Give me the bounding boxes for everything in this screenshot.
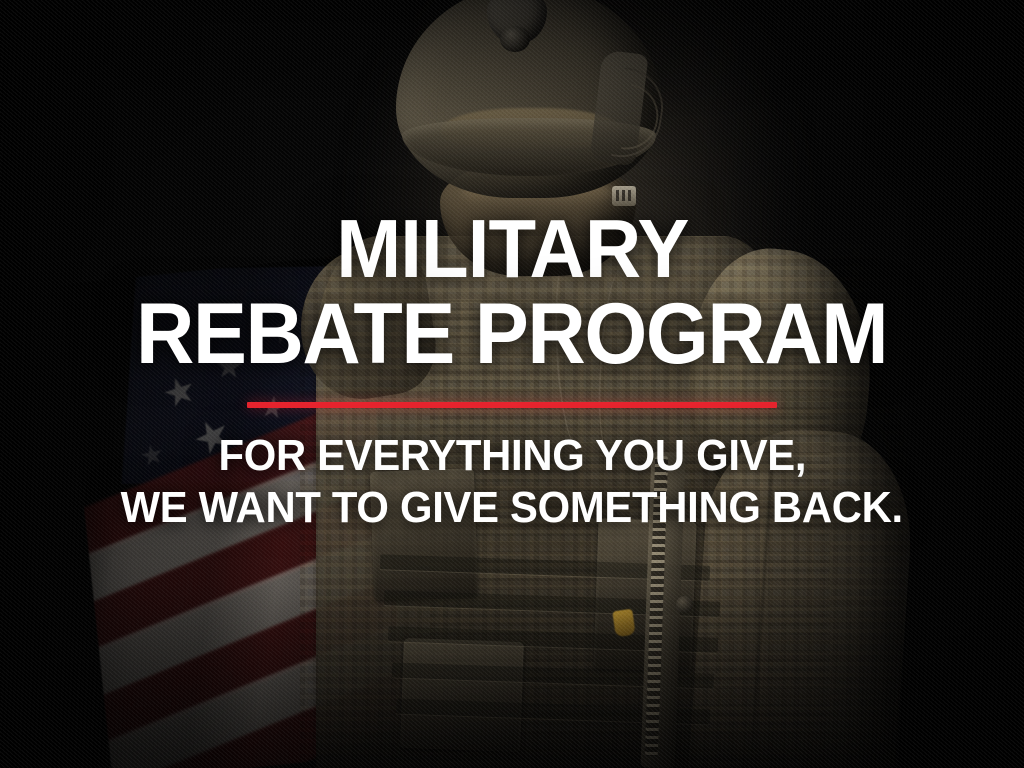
subhead-line-1: FOR EVERYTHING YOU GIVE, xyxy=(218,432,806,480)
headline-line-1: MILITARY xyxy=(336,208,688,290)
banner-content: MILITARY REBATE PROGRAM FOR EVERYTHING Y… xyxy=(0,0,1024,768)
subhead-line-2: WE WANT TO GIVE SOMETHING BACK. xyxy=(121,484,903,532)
red-rule-divider xyxy=(247,402,777,408)
headline-line-2: REBATE PROGRAM xyxy=(136,292,887,377)
promo-banner: MILITARY REBATE PROGRAM FOR EVERYTHING Y… xyxy=(0,0,1024,768)
